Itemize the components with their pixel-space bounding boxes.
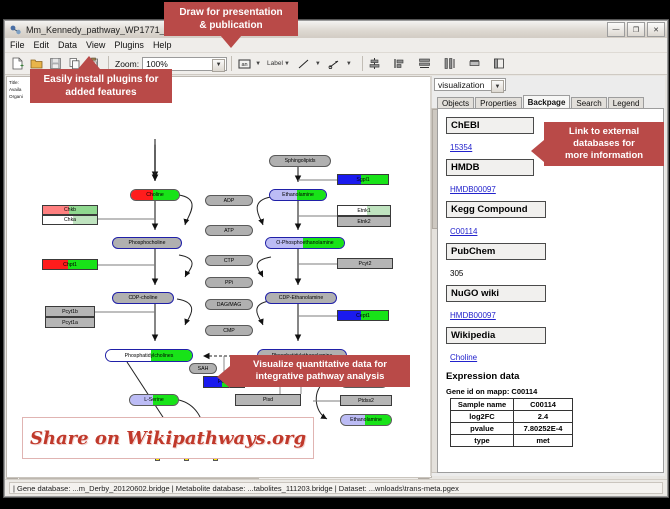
gene-node-etnk1[interactable]: Etnk1 bbox=[337, 205, 391, 216]
metabolite-node-ethanolamine-right[interactable]: Ethanolamine bbox=[340, 414, 392, 426]
line-tool[interactable]: ▼ bbox=[296, 56, 325, 72]
gene-node-cept1[interactable]: Cept1 bbox=[337, 310, 389, 321]
zoom-value: 100% bbox=[146, 59, 168, 69]
backpage-header-nugo: NuGO wiki bbox=[446, 285, 546, 302]
metabolite-node-cdp-choline[interactable]: CDP-choline bbox=[112, 292, 174, 304]
gene-node-ptdss2[interactable]: Ptdss2 bbox=[340, 395, 392, 406]
align-left-icon[interactable] bbox=[392, 56, 408, 72]
align-center-icon[interactable] bbox=[367, 56, 383, 72]
table-row: Sample name C00114 bbox=[451, 399, 573, 411]
node-label: O-Phosphoethanolamine bbox=[276, 240, 333, 246]
toolbar-separator-2 bbox=[231, 56, 232, 71]
gene-node-pcyt1a[interactable]: Pcyt1a bbox=[45, 317, 95, 328]
node-label: Chpt1 bbox=[63, 262, 77, 268]
backpage-header-chebi: ChEBI bbox=[446, 117, 534, 134]
backpage-link-hmdb[interactable]: HMDB00097 bbox=[450, 185, 496, 194]
metabolite-node-atp[interactable]: ATP bbox=[205, 225, 253, 236]
node-label: Cept1 bbox=[356, 313, 370, 319]
menu-bar: File Edit Data View Plugins Help bbox=[5, 38, 667, 53]
label-tool[interactable]: Label ▼ bbox=[267, 60, 294, 67]
metabolite-node-sphingolipids[interactable]: Sphingolipids bbox=[269, 155, 331, 167]
distribute-horizontal-icon[interactable] bbox=[442, 56, 458, 72]
backpage-link-chebi[interactable]: 15354 bbox=[450, 143, 472, 152]
backpage-link-nugo[interactable]: HMDB00097 bbox=[450, 311, 496, 320]
metabolite-node-ophosphoethanolamine[interactable]: O-Phosphoethanolamine bbox=[265, 237, 345, 249]
metabolite-node-phosphatidylcholines[interactable]: Phosphatidylcholines bbox=[105, 349, 193, 362]
callout-visualize-arrow-icon bbox=[217, 366, 230, 388]
node-label: Ethanolamine bbox=[350, 417, 382, 423]
line-icon[interactable] bbox=[296, 56, 312, 72]
chevron-down-icon[interactable]: ▼ bbox=[212, 59, 225, 72]
new-file-icon[interactable] bbox=[9, 56, 25, 72]
callout-links-line1: Link to external bbox=[552, 126, 656, 138]
callout-visualize: Visualize quantitative data for integrat… bbox=[230, 355, 410, 387]
chevron-down-icon[interactable]: ▼ bbox=[255, 61, 261, 67]
pathvisio-icon bbox=[9, 24, 22, 36]
node-label: Choline bbox=[146, 192, 164, 198]
metabolite-node-ppi[interactable]: PPi bbox=[205, 277, 253, 288]
metabolite-node-dagmag[interactable]: DAG/MAG bbox=[205, 299, 253, 310]
screenshot-root: Mm_Kennedy_pathway_WP1771_45176.gpml — ❐… bbox=[0, 0, 670, 509]
toolbar-separator-3 bbox=[362, 56, 363, 71]
menu-item-file[interactable]: File bbox=[10, 40, 25, 50]
menu-item-data[interactable]: Data bbox=[58, 40, 77, 50]
callout-links-line2: databases for bbox=[552, 138, 656, 150]
callout-draw-arrow-icon bbox=[220, 35, 242, 48]
node-label: CMP bbox=[223, 328, 235, 334]
metabolite-node-ethanolamine[interactable]: Ethanolamine bbox=[269, 189, 327, 201]
node-label: PPi bbox=[225, 280, 233, 286]
node-label: Pcyt1b bbox=[62, 309, 78, 315]
pathway-info-text: Title: Availa Organi bbox=[9, 79, 23, 100]
pathway-info-line-1: Availa bbox=[9, 86, 23, 93]
interaction-tool[interactable]: ▼ bbox=[327, 56, 356, 72]
node-label: CTP bbox=[224, 258, 234, 264]
chevron-down-icon[interactable]: ▼ bbox=[284, 61, 290, 67]
status-text: | Gene database: ...m_Derby_20120602.bri… bbox=[13, 484, 459, 493]
node-label: Phosphatidylcholines bbox=[125, 353, 174, 359]
metabolite-node-cdp-ethanolamine[interactable]: CDP-Ethanolamine bbox=[265, 292, 337, 304]
node-label: Chka bbox=[64, 217, 76, 223]
gene-node-chka[interactable]: Chka bbox=[42, 215, 98, 225]
visualization-combo[interactable]: visualization ▼ bbox=[434, 78, 506, 91]
gene-node-pisd[interactable]: Pisd bbox=[235, 394, 301, 406]
gene-node-etnk2[interactable]: Etnk2 bbox=[337, 216, 391, 227]
menu-item-view[interactable]: View bbox=[86, 40, 105, 50]
pathway-info-line-0: Title: bbox=[9, 79, 23, 86]
node-label: SAH bbox=[198, 366, 209, 372]
chevron-down-icon[interactable]: ▼ bbox=[346, 61, 352, 67]
node-label: Chkb bbox=[64, 207, 76, 213]
callout-draw-line2: & publication bbox=[172, 19, 290, 32]
node-label: L-Serine bbox=[144, 397, 164, 403]
callout-visualize-line2: integrative pathway analysis bbox=[238, 371, 402, 383]
table-row: log2FC 2.4 bbox=[451, 411, 573, 423]
callout-plugins: Easily install plugins for added feature… bbox=[30, 69, 172, 103]
expr-val-type: met bbox=[514, 435, 573, 447]
node-label: Phosphocholine bbox=[129, 240, 166, 246]
bring-to-front-icon[interactable] bbox=[492, 56, 508, 72]
callout-links-arrow-icon bbox=[531, 140, 544, 162]
node-label: ATP bbox=[224, 228, 234, 234]
expr-key-log2fc: log2FC bbox=[451, 411, 514, 423]
gene-node-chpt1[interactable]: Chpt1 bbox=[42, 259, 98, 270]
menu-item-help[interactable]: Help bbox=[153, 40, 172, 50]
callout-draw-line1: Draw for presentation bbox=[172, 6, 290, 19]
gene-node-pcyt1b[interactable]: Pcyt1b bbox=[45, 306, 95, 317]
backpage-header-wikipedia: Wikipedia bbox=[446, 327, 546, 344]
expression-table: Sample name C00114 log2FC 2.4 pvalue 7.8… bbox=[450, 398, 573, 447]
node-label: Sphingolipids bbox=[285, 158, 316, 164]
node-label: Pisd bbox=[263, 397, 273, 403]
callout-share-text: Share on Wikipathways.org bbox=[30, 428, 306, 449]
minimize-button[interactable]: — bbox=[607, 22, 625, 37]
expr-key-type: type bbox=[451, 435, 514, 447]
callout-links-line3: more information bbox=[552, 150, 656, 162]
title-bar: Mm_Kennedy_pathway_WP1771_45176.gpml — ❐… bbox=[5, 21, 667, 39]
node-label: Pcyt1a bbox=[62, 320, 78, 326]
metabolite-node-ctp[interactable]: CTP bbox=[205, 255, 253, 266]
table-row: pvalue 7.80252E-4 bbox=[451, 423, 573, 435]
menu-item-edit[interactable]: Edit bbox=[34, 40, 50, 50]
tab-backpage[interactable]: Backpage bbox=[523, 95, 571, 109]
node-label: Ptdss2 bbox=[358, 398, 374, 404]
metabolite-node-choline-top[interactable]: Choline bbox=[130, 189, 180, 201]
backpage-header-pubchem: PubChem bbox=[446, 243, 546, 260]
same-width-icon[interactable] bbox=[467, 56, 483, 72]
node-label: CDP-choline bbox=[128, 295, 157, 301]
callout-plugins-line2: added features bbox=[38, 86, 164, 99]
expr-val-pvalue: 7.80252E-4 bbox=[514, 423, 573, 435]
datanode-icon[interactable]: an bbox=[236, 56, 252, 72]
gene-id-note: Gene id on mapp: C00114 bbox=[446, 387, 646, 396]
sidebar-tabs: Objects Properties Backpage Search Legen… bbox=[437, 95, 657, 109]
node-label: Pcyt2 bbox=[359, 261, 372, 267]
status-bar: | Gene database: ...m_Derby_20120602.bri… bbox=[5, 479, 667, 496]
node-label: Ethanolamine bbox=[282, 192, 314, 198]
backpage-value-pubchem: 305 bbox=[450, 269, 463, 278]
callout-plugins-arrow-icon bbox=[78, 56, 100, 69]
callout-links: Link to external databases for more info… bbox=[544, 122, 664, 166]
svg-text:an: an bbox=[241, 62, 247, 68]
metabolite-node-cmp[interactable]: CMP bbox=[205, 325, 253, 336]
visualization-value: visualization bbox=[438, 80, 484, 90]
node-label: DAG/MAG bbox=[217, 302, 242, 308]
expr-val-log2fc: 2.4 bbox=[514, 411, 573, 423]
node-label: Etnk1 bbox=[357, 208, 370, 214]
chevron-down-icon[interactable]: ▼ bbox=[315, 61, 321, 67]
metabolite-node-phosphocholine[interactable]: Phosphocholine bbox=[112, 237, 182, 249]
label-tool-label: Label bbox=[267, 60, 283, 67]
zoom-label: Zoom: bbox=[115, 59, 139, 69]
pathway-info-line-2: Organi bbox=[9, 93, 23, 100]
table-row: type met bbox=[451, 435, 573, 447]
gene-node-sgpl1[interactable]: Sgpl1 bbox=[337, 174, 389, 185]
window-controls: — ❐ ✕ bbox=[607, 22, 665, 37]
node-label: ADP bbox=[224, 198, 235, 204]
metabolite-node-adp[interactable]: ADP bbox=[205, 195, 253, 206]
backpage-link-wikipedia[interactable]: Choline bbox=[450, 353, 477, 362]
backpage-entries: ChEBI 15354 HMDB HMDB00097 Kegg Compound… bbox=[446, 117, 646, 447]
gene-node-pcyt2[interactable]: Pcyt2 bbox=[337, 258, 393, 269]
callout-draw: Draw for presentation & publication bbox=[164, 2, 298, 36]
backpage-header-kegg: Kegg Compound bbox=[446, 201, 546, 218]
close-button[interactable]: ✕ bbox=[647, 22, 665, 37]
node-label: Etnk2 bbox=[357, 219, 370, 225]
distribute-vertical-icon[interactable] bbox=[417, 56, 433, 72]
gene-node-chkb[interactable]: Chkb bbox=[42, 205, 98, 215]
expr-key-sample-name: Sample name bbox=[451, 399, 514, 411]
node-label: CDP-Ethanolamine bbox=[279, 295, 323, 301]
backpage-header-hmdb: HMDB bbox=[446, 159, 534, 176]
callout-plugins-line1: Easily install plugins for bbox=[38, 73, 164, 86]
callout-visualize-line1: Visualize quantitative data for bbox=[238, 359, 402, 371]
status-bar-inner: | Gene database: ...m_Derby_20120602.bri… bbox=[9, 482, 663, 494]
backpage-link-kegg[interactable]: C00114 bbox=[450, 227, 477, 236]
expr-key-pvalue: pvalue bbox=[451, 423, 514, 435]
menu-item-plugins[interactable]: Plugins bbox=[114, 40, 144, 50]
chevron-down-icon[interactable]: ▼ bbox=[491, 80, 504, 93]
callout-share: Share on Wikipathways.org bbox=[22, 417, 314, 459]
expression-data-title: Expression data bbox=[446, 371, 646, 382]
metabolite-node-l-serine-left[interactable]: L-Serine bbox=[129, 394, 179, 406]
metabolite-node-sah[interactable]: SAH bbox=[189, 363, 217, 374]
datanode-tool[interactable]: an ▼ bbox=[236, 56, 265, 72]
interaction-icon[interactable] bbox=[327, 56, 343, 72]
maximize-button[interactable]: ❐ bbox=[627, 22, 645, 37]
expr-val-sample-name: C00114 bbox=[514, 399, 573, 411]
node-label: Sgpl1 bbox=[356, 177, 369, 183]
